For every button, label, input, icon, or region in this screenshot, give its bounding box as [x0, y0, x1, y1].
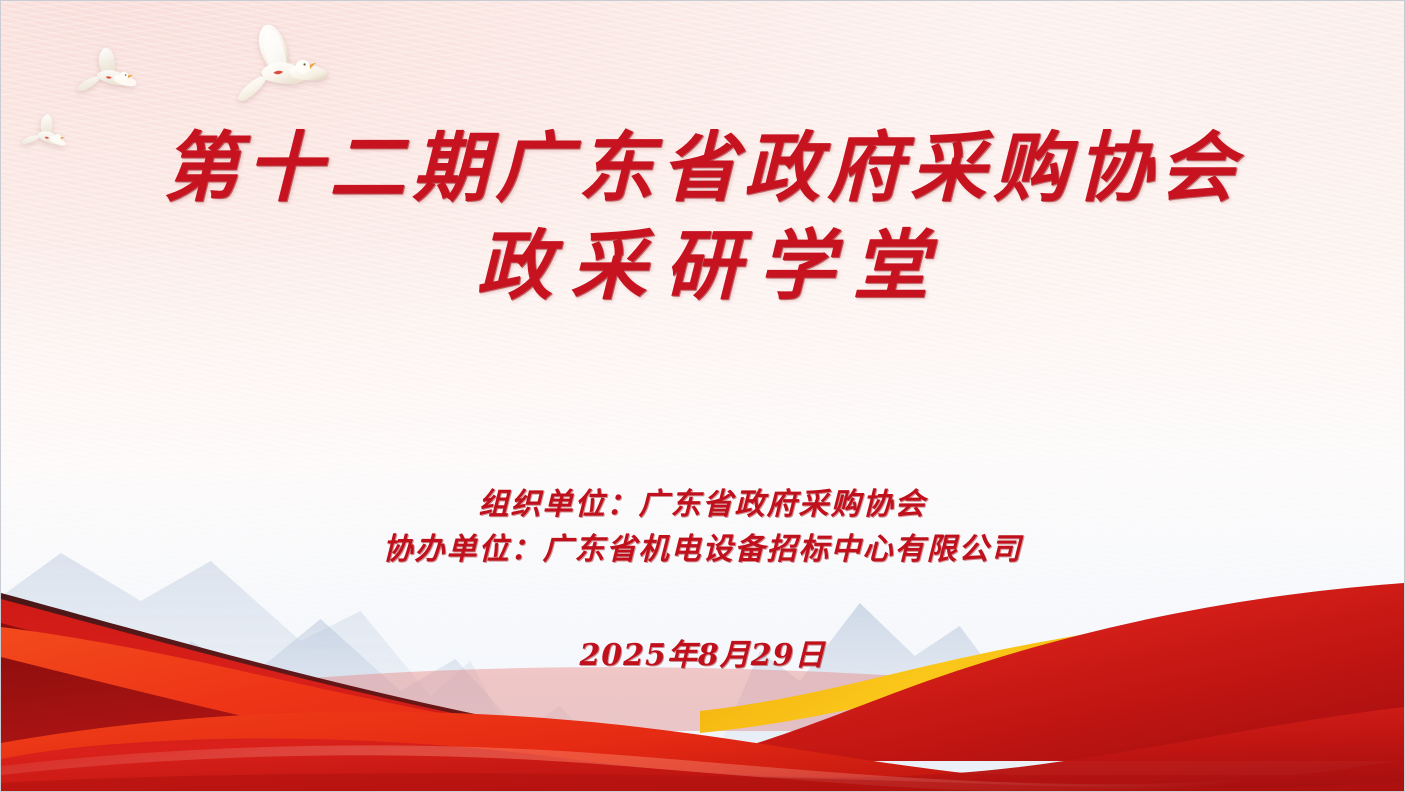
organizer-line: 组织单位：广东省政府采购协会: [1, 482, 1404, 527]
dove-icon: [206, 17, 335, 124]
date-block: 2025年8月29日: [1, 630, 1404, 674]
co-organizer-line: 协办单位：广东省机电设备招标中心有限公司: [1, 527, 1404, 572]
dove-icon: [68, 43, 144, 108]
organizer-block: 组织单位：广东省政府采购协会 协办单位：广东省机电设备招标中心有限公司: [1, 482, 1404, 572]
red-ribbon-footer-decoration: [1, 561, 1404, 791]
event-date: 2025年8月29日: [1, 630, 1404, 674]
title-slide: 第十二期广东省政府采购协会 政采研学堂 组织单位：广东省政府采购协会 协办单位：…: [0, 0, 1405, 792]
